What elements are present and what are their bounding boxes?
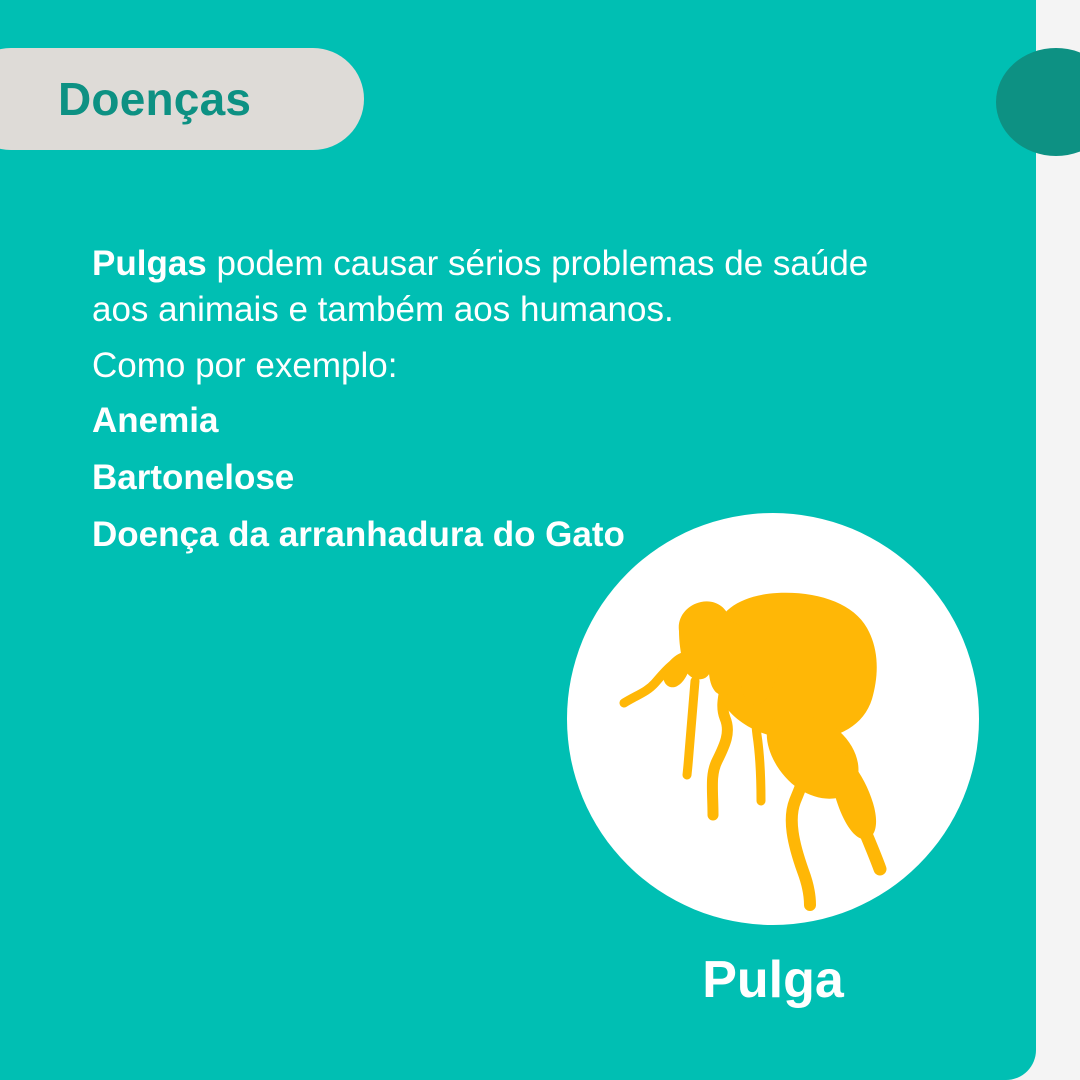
intro-paragraph: Pulgas podem causar sérios problemas de … <box>92 241 882 333</box>
right-edge-panel <box>1036 8 1080 1080</box>
flea-palp <box>663 651 691 687</box>
example-label: Como por exemplo: <box>92 343 397 389</box>
list-item: Bartonelose <box>92 457 652 498</box>
poster-canvas: Doenças Pulgas podem causar sérios probl… <box>0 0 1080 1080</box>
section-badge-label: Doenças <box>58 72 251 126</box>
flea-illustration-circle <box>567 513 979 925</box>
disease-list: Anemia Bartonelose Doença da arranhadura… <box>92 400 652 571</box>
list-item: Anemia <box>92 400 652 441</box>
list-item: Doença da arranhadura do Gato <box>92 514 652 555</box>
flea-icon <box>567 513 979 925</box>
flea-caption: Pulga <box>567 950 979 1010</box>
section-badge: Doenças <box>0 48 364 150</box>
intro-lead-word: Pulgas <box>92 244 207 283</box>
intro-rest-text: podem causar sérios problemas de saúde a… <box>92 244 868 329</box>
main-teal-card: Doenças Pulgas podem causar sérios probl… <box>0 0 1036 1080</box>
